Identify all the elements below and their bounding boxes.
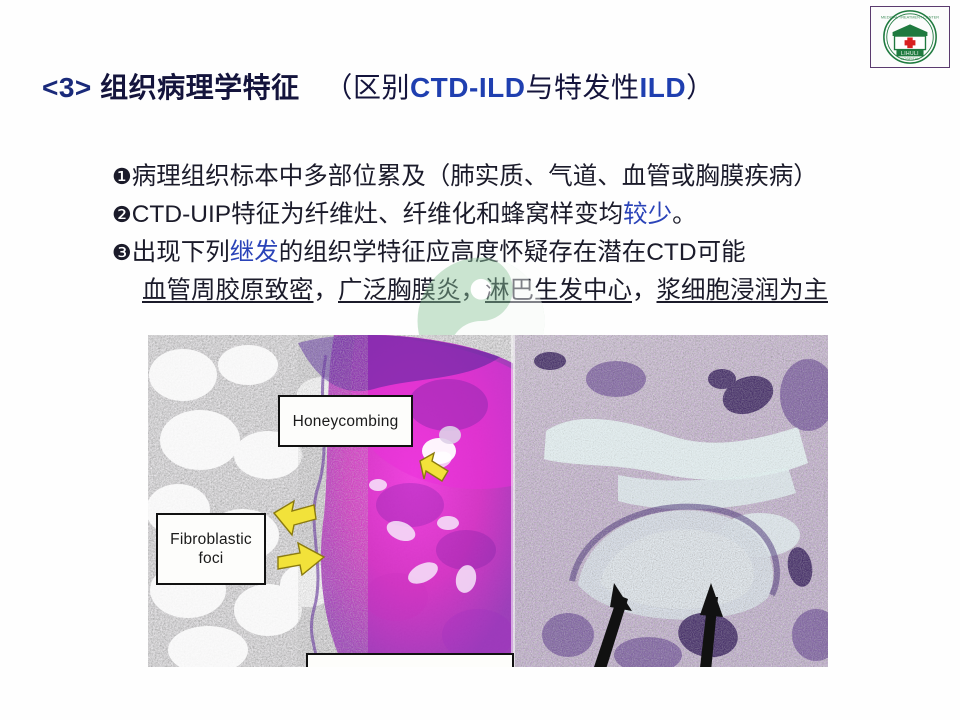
svg-text:MEDICAL TREATMENT CENTER: MEDICAL TREATMENT CENTER bbox=[881, 15, 939, 20]
bullet-text-2c: 。 bbox=[672, 201, 697, 228]
title-number: <3> bbox=[42, 72, 92, 103]
title-middle: 与特发性 bbox=[525, 72, 639, 103]
bullet-sub-line: 血管周胶原致密，广泛胸膜炎，淋巴生发中心，浆细胞浸润为主 bbox=[142, 272, 922, 310]
title-main: 组织病理学特征 bbox=[100, 72, 300, 103]
body-text-block: ❶病理组织标本中多部位累及（肺实质、气道、血管或胸膜疾病） ❷CTD-UIP特征… bbox=[112, 158, 922, 310]
svg-text:LIHULI: LIHULI bbox=[901, 51, 919, 57]
slide-canvas: MEDICAL TREATMENT CENTER HOSPITAL LIHULI… bbox=[0, 0, 960, 720]
bullet-text-3b-highlight: 继发 bbox=[230, 239, 279, 266]
title-paren-prefix: 区别 bbox=[353, 72, 410, 103]
hospital-logo: MEDICAL TREATMENT CENTER HOSPITAL LIHULI bbox=[870, 6, 950, 68]
bullet-marker-1: ❶ bbox=[112, 164, 132, 189]
bullet-text-2a: CTD-UIP特征为纤维灶、纤维化和蜂窝样变均 bbox=[132, 201, 623, 228]
hospital-logo-icon: MEDICAL TREATMENT CENTER HOSPITAL LIHULI bbox=[871, 7, 949, 67]
title-term-ild: ILD bbox=[639, 72, 686, 103]
title-paren-close: ） bbox=[686, 72, 715, 103]
sub-separator-3: ， bbox=[632, 277, 657, 304]
sub-separator-1: ， bbox=[314, 277, 339, 304]
bullet-marker-3: ❸ bbox=[112, 240, 132, 265]
micrograph-right-panel bbox=[511, 335, 828, 667]
histopathology-micrograph: Honeycombing Fibroblastic foci Dense Fib… bbox=[148, 335, 828, 667]
sub-segment-1: 血管周胶原致密 bbox=[142, 277, 314, 304]
title-paren-open: （ bbox=[324, 72, 353, 103]
micrograph-left-panel bbox=[148, 335, 516, 667]
bullet-text-2b-highlight: 较少 bbox=[623, 201, 672, 228]
label-dense-fibrosis: Dense Fibrosis bbox=[306, 653, 514, 667]
page-title: <3> 组织病理学特征 （区别CTD-ILD与特发性ILD） bbox=[42, 66, 715, 106]
title-term-ctd-ild: CTD-ILD bbox=[410, 72, 525, 103]
micrograph-image bbox=[148, 335, 828, 667]
label-honeycombing-text: Honeycombing bbox=[293, 412, 399, 431]
label-fibroblastic-foci: Fibroblastic foci bbox=[156, 513, 266, 585]
label-honeycombing: Honeycombing bbox=[278, 395, 413, 447]
bullet-line-3: ❸出现下列继发的组织学特征应高度怀疑存在潜在CTD可能 bbox=[112, 234, 922, 272]
bullet-line-1: ❶病理组织标本中多部位累及（肺实质、气道、血管或胸膜疾病） bbox=[112, 158, 922, 196]
bullet-text-1: 病理组织标本中多部位累及（肺实质、气道、血管或胸膜疾病） bbox=[132, 163, 818, 190]
label-fibroblastic-foci-line2: foci bbox=[199, 549, 224, 568]
sub-segment-2: 广泛胸膜炎 bbox=[338, 277, 461, 304]
sub-segment-3: 淋巴生发中心 bbox=[485, 277, 632, 304]
label-fibroblastic-foci-line1: Fibroblastic bbox=[170, 530, 252, 549]
sub-separator-2: ， bbox=[461, 277, 486, 304]
bullet-line-2: ❷CTD-UIP特征为纤维灶、纤维化和蜂窝样变均较少。 bbox=[112, 196, 922, 234]
bullet-text-3a: 出现下列 bbox=[132, 239, 230, 266]
bullet-text-3c: 的组织学特征应高度怀疑存在潜在CTD可能 bbox=[279, 239, 746, 266]
sub-segment-4: 浆细胞浸润为主 bbox=[657, 277, 829, 304]
bullet-marker-2: ❷ bbox=[112, 202, 132, 227]
